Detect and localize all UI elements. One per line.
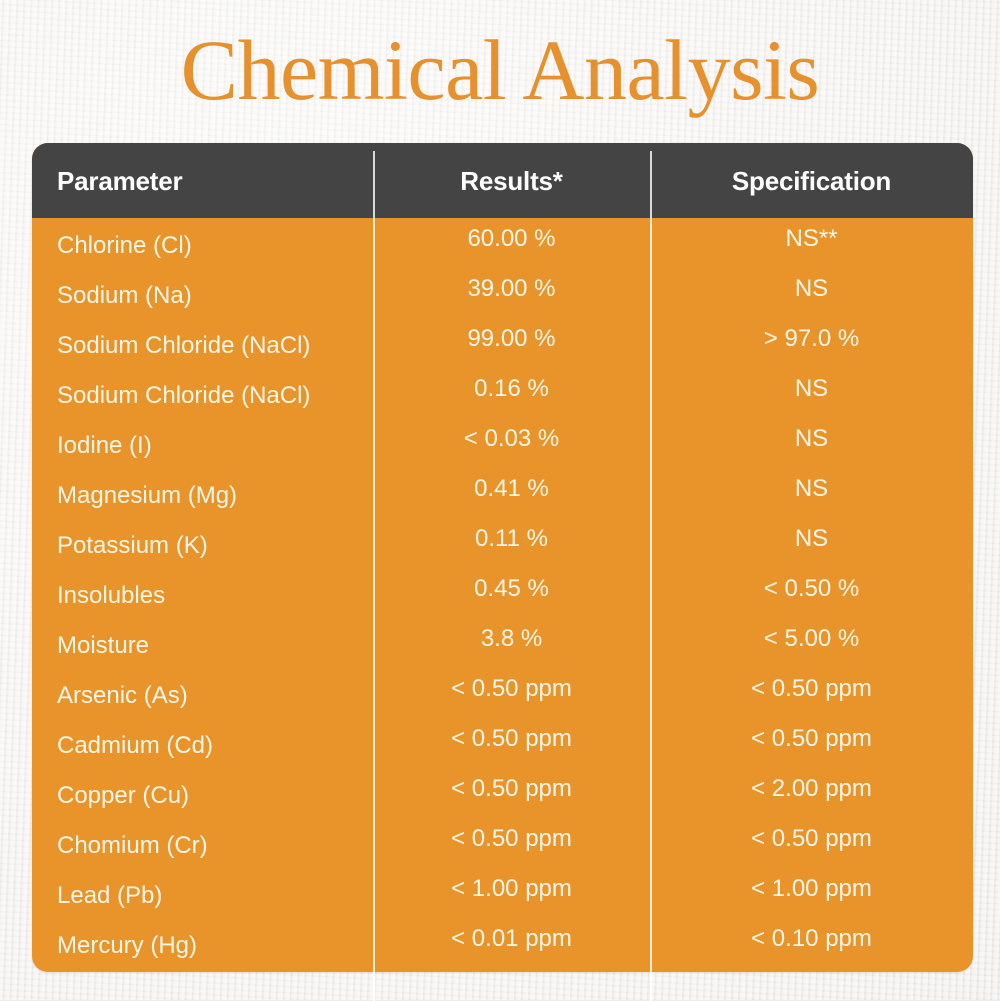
cell-results: 0.11 % (373, 525, 650, 553)
cell-specification: < 0.50 ppm (650, 725, 973, 753)
table-row: Iodine (I)< 0.03 %NS (32, 418, 973, 468)
cell-specification: < 5.00 % (650, 625, 973, 653)
cell-parameter: Insolubles (32, 582, 373, 610)
cell-specification: < 0.50 % (650, 575, 973, 603)
column-header-specification: Specification (650, 166, 973, 196)
cell-parameter: Potassium (K) (32, 532, 373, 560)
table-row: Magnesium (Mg)0.41 %NS (32, 468, 973, 518)
cell-results: < 0.50 ppm (373, 675, 650, 703)
cell-parameter: Iodine (I) (32, 432, 373, 460)
cell-results: < 0.03 % (373, 425, 650, 453)
cell-results: 0.45 % (373, 575, 650, 603)
cell-parameter: Moisture (32, 632, 373, 660)
cell-parameter: Lead (Pb) (32, 882, 373, 910)
cell-results: < 0.50 ppm (373, 825, 650, 853)
cell-parameter: Magnesium (Mg) (32, 482, 373, 510)
column-divider-tail-1 (373, 972, 375, 1000)
cell-results: 0.41 % (373, 475, 650, 503)
table-header-row: Parameter Results* Specification (32, 143, 973, 218)
cell-results: < 0.50 ppm (373, 775, 650, 803)
cell-specification: NS (650, 525, 973, 553)
cell-specification: NS (650, 475, 973, 503)
cell-results: 60.00 % (373, 225, 650, 253)
table-row: Insolubles0.45 %< 0.50 % (32, 568, 973, 618)
table-row: Sodium Chloride (NaCl)99.00 %> 97.0 % (32, 318, 973, 368)
cell-results: < 1.00 ppm (373, 875, 650, 903)
table-row: Arsenic (As)< 0.50 ppm< 0.50 ppm (32, 668, 973, 718)
cell-results: < 0.50 ppm (373, 725, 650, 753)
table-row: Cadmium (Cd)< 0.50 ppm< 0.50 ppm (32, 718, 973, 768)
table-row: Sodium (Na)39.00 %NS (32, 268, 973, 318)
cell-parameter: Cadmium (Cd) (32, 732, 373, 760)
column-divider-1 (373, 151, 375, 1001)
table-body: Chlorine (Cl)60.00 %NS**Sodium (Na)39.00… (32, 218, 973, 968)
chemical-analysis-page: Chemical Analysis Parameter Results* Spe… (0, 0, 1000, 1000)
cell-parameter: Sodium Chloride (NaCl) (32, 382, 373, 410)
column-header-results: Results* (373, 166, 650, 196)
page-title: Chemical Analysis (0, 22, 1000, 118)
cell-parameter: Copper (Cu) (32, 782, 373, 810)
cell-results: 99.00 % (373, 325, 650, 353)
cell-parameter: Sodium Chloride (NaCl) (32, 332, 373, 360)
cell-parameter: Chlorine (Cl) (32, 232, 373, 260)
table-row: Copper (Cu)< 0.50 ppm< 2.00 ppm (32, 768, 973, 818)
cell-results: < 0.01 ppm (373, 925, 650, 953)
table-row: Moisture3.8 %< 5.00 % (32, 618, 973, 668)
column-header-parameter: Parameter (32, 166, 373, 196)
cell-parameter: Arsenic (As) (32, 682, 373, 710)
cell-specification: NS (650, 275, 973, 303)
cell-specification: < 0.50 ppm (650, 825, 973, 853)
cell-results: 0.16 % (373, 375, 650, 403)
cell-specification: < 0.10 ppm (650, 925, 973, 953)
table-row: Chlorine (Cl)60.00 %NS** (32, 218, 973, 268)
cell-specification: > 97.0 % (650, 325, 973, 353)
cell-specification: < 2.00 ppm (650, 775, 973, 803)
cell-specification: NS (650, 375, 973, 403)
table-row: Potassium (K)0.11 %NS (32, 518, 973, 568)
table-row: Lead (Pb)< 1.00 ppm< 1.00 ppm (32, 868, 973, 918)
table-row: Chomium (Cr)< 0.50 ppm< 0.50 ppm (32, 818, 973, 868)
cell-specification: NS** (650, 225, 973, 253)
cell-specification: < 1.00 ppm (650, 875, 973, 903)
column-divider-tail-2 (650, 972, 652, 1000)
cell-parameter: Chomium (Cr) (32, 832, 373, 860)
table-row: Mercury (Hg)< 0.01 ppm< 0.10 ppm (32, 918, 973, 968)
chemical-analysis-table: Parameter Results* Specification Chlorin… (32, 143, 973, 972)
cell-results: 39.00 % (373, 275, 650, 303)
cell-results: 3.8 % (373, 625, 650, 653)
table-row: Sodium Chloride (NaCl)0.16 %NS (32, 368, 973, 418)
cell-parameter: Sodium (Na) (32, 282, 373, 310)
cell-specification: < 0.50 ppm (650, 675, 973, 703)
cell-specification: NS (650, 425, 973, 453)
cell-parameter: Mercury (Hg) (32, 932, 373, 960)
column-divider-2 (650, 151, 652, 1001)
